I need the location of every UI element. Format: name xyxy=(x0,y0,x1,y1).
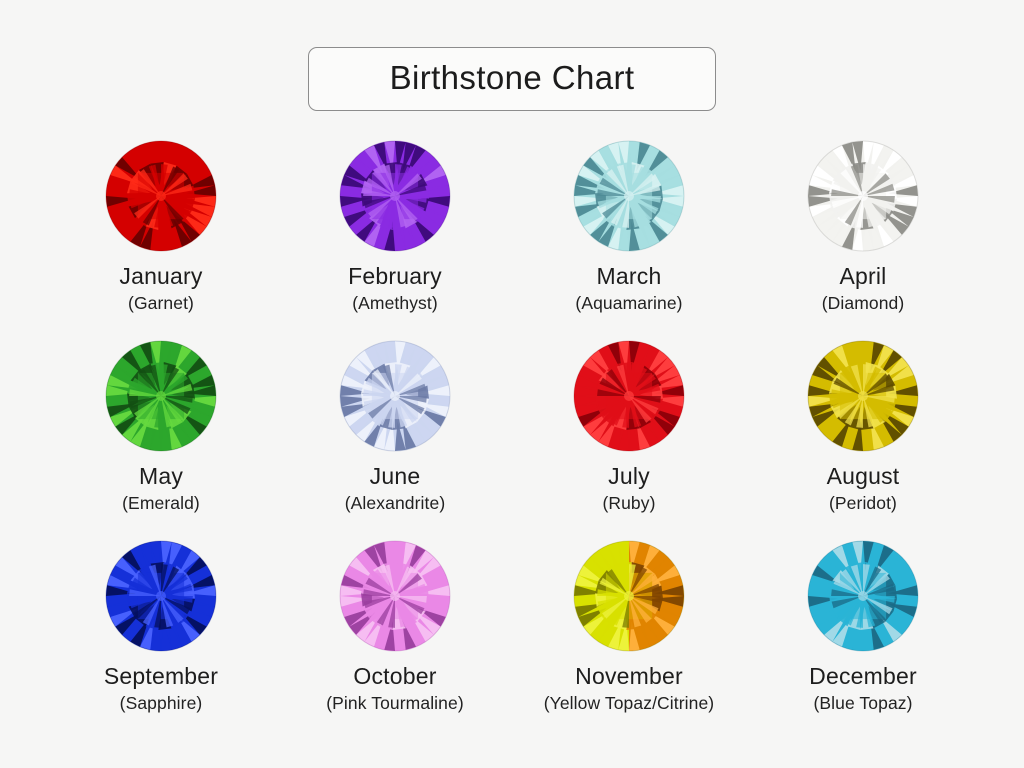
month-label: September xyxy=(104,664,218,690)
month-label: October xyxy=(353,664,436,690)
birthstone-cell-october: October(Pink Tourmaline) xyxy=(278,540,512,740)
title-container: Birthstone Chart xyxy=(0,47,1024,111)
title-box: Birthstone Chart xyxy=(308,47,716,111)
gem-icon-diamond xyxy=(807,140,919,252)
gem-icon-aquamarine xyxy=(573,140,685,252)
stone-label: (Sapphire) xyxy=(120,694,203,714)
stone-label: (Blue Topaz) xyxy=(813,694,912,714)
birthstone-cell-january: January(Garnet) xyxy=(44,140,278,340)
stone-label: (Diamond) xyxy=(822,294,905,314)
birthstone-cell-july: July(Ruby) xyxy=(512,340,746,540)
gem-icon-emerald xyxy=(105,340,217,452)
month-label: August xyxy=(827,464,900,490)
gem-icon-yellow-topaz-citrine xyxy=(573,540,685,652)
month-label: April xyxy=(839,264,886,290)
month-label: March xyxy=(597,264,662,290)
birthstone-chart-page: Birthstone Chart January(Garnet)February… xyxy=(0,0,1024,768)
birthstone-cell-february: February(Amethyst) xyxy=(278,140,512,340)
birthstone-grid: January(Garnet)February(Amethyst)March(A… xyxy=(44,140,980,740)
stone-label: (Garnet) xyxy=(128,294,194,314)
month-label: July xyxy=(608,464,650,490)
month-label: November xyxy=(575,664,683,690)
page-title: Birthstone Chart xyxy=(357,61,667,94)
month-label: May xyxy=(139,464,183,490)
gem-icon-sapphire xyxy=(105,540,217,652)
birthstone-cell-march: March(Aquamarine) xyxy=(512,140,746,340)
stone-label: (Emerald) xyxy=(122,494,200,514)
birthstone-cell-april: April(Diamond) xyxy=(746,140,980,340)
stone-label: (Yellow Topaz/Citrine) xyxy=(544,694,714,714)
birthstone-cell-june: June(Alexandrite) xyxy=(278,340,512,540)
birthstone-cell-september: September(Sapphire) xyxy=(44,540,278,740)
stone-label: (Amethyst) xyxy=(352,294,438,314)
month-label: February xyxy=(348,264,442,290)
month-label: January xyxy=(119,264,202,290)
stone-label: (Ruby) xyxy=(602,494,655,514)
birthstone-cell-december: December(Blue Topaz) xyxy=(746,540,980,740)
birthstone-cell-august: August(Peridot) xyxy=(746,340,980,540)
gem-icon-pink-tourmaline xyxy=(339,540,451,652)
stone-label: (Aquamarine) xyxy=(575,294,682,314)
month-label: June xyxy=(370,464,421,490)
gem-icon-amethyst xyxy=(339,140,451,252)
gem-icon-peridot xyxy=(807,340,919,452)
gem-icon-alexandrite xyxy=(339,340,451,452)
gem-icon-blue-topaz xyxy=(807,540,919,652)
stone-label: (Alexandrite) xyxy=(345,494,446,514)
birthstone-cell-may: May(Emerald) xyxy=(44,340,278,540)
gem-icon-garnet xyxy=(105,140,217,252)
birthstone-cell-november: November(Yellow Topaz/Citrine) xyxy=(512,540,746,740)
gem-icon-ruby xyxy=(573,340,685,452)
month-label: December xyxy=(809,664,917,690)
stone-label: (Peridot) xyxy=(829,494,897,514)
stone-label: (Pink Tourmaline) xyxy=(326,694,464,714)
